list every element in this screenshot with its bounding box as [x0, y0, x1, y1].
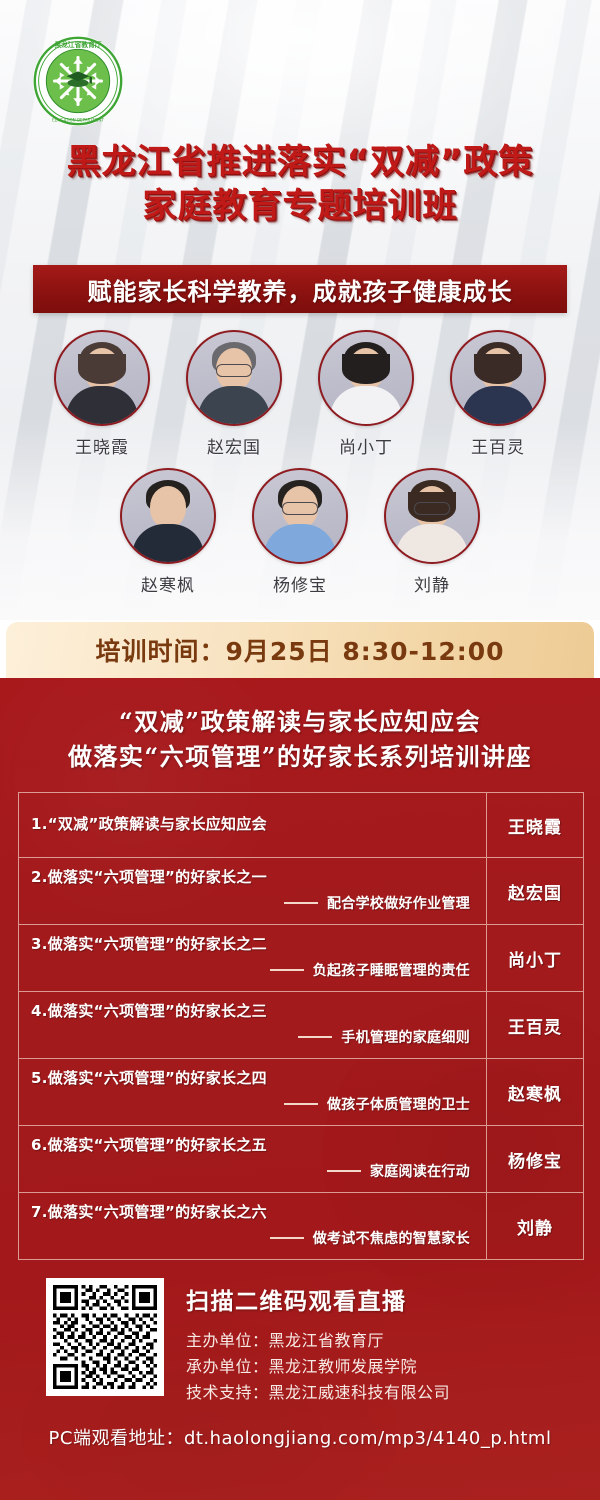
table-cell-topic: 2.做落实“六项管理”的好家长之一 配合学校做好作业管理 [19, 858, 487, 924]
avatar [384, 468, 480, 564]
avatar [252, 468, 348, 564]
speaker-name: 赵寒枫 [114, 571, 222, 596]
avatar [186, 330, 282, 426]
page-title-line-1: 黑龙江省推进落实“双减”政策 [0, 140, 600, 184]
speaker-name: 尚小丁 [312, 433, 420, 458]
speaker-card[interactable]: 赵寒枫 [114, 468, 222, 596]
speaker-card[interactable]: 刘静 [378, 468, 486, 596]
topic-subtitle: 家庭阅读在行动 [327, 1161, 474, 1181]
topic-title: 4.做落实“六项管理”的好家长之三 [31, 1001, 474, 1022]
section-heading-line-1: “双减”政策解读与家长应知应会 [0, 704, 600, 739]
table-cell-speaker: 王晓霞 [487, 793, 583, 857]
topic-subtitle: 做孩子体质管理的卫士 [284, 1094, 474, 1114]
speaker-card[interactable]: 王百灵 [444, 330, 552, 458]
tech-support-line: 技术支持：黑龙江威速科技有限公司 [186, 1380, 450, 1406]
qr-title: 扫描二维码观看直播 [186, 1282, 450, 1316]
topic-subtitle-text: 做孩子体质管理的卫士 [327, 1094, 470, 1114]
speaker-card[interactable]: 尚小丁 [312, 330, 420, 458]
qr-code[interactable] [46, 1278, 164, 1396]
qr-info: 扫描二维码观看直播 主办单位：黑龙江省教育厅 承办单位：黑龙江教师发展学院 技术… [186, 1278, 450, 1406]
dash-icon [284, 902, 318, 904]
svg-text:EDUCATION DEPARTMENT: EDUCATION DEPARTMENT [52, 117, 104, 122]
table-cell-topic: 1.“双减”政策解读与家长应知应会 [19, 793, 487, 857]
avatar [54, 330, 150, 426]
speaker-card[interactable]: 杨修宝 [246, 468, 354, 596]
speaker-card[interactable]: 赵宏国 [180, 330, 288, 458]
table-row[interactable]: 7.做落实“六项管理”的好家长之六 做考试不焦虑的智慧家长 刘静 [19, 1193, 583, 1259]
topic-title: 7.做落实“六项管理”的好家长之六 [31, 1202, 474, 1223]
topic-title: 3.做落实“六项管理”的好家长之二 [31, 934, 474, 955]
table-row[interactable]: 6.做落实“六项管理”的好家长之五 家庭阅读在行动 杨修宝 [19, 1126, 583, 1193]
speaker-name: 刘静 [378, 571, 486, 596]
section-heading: “双减”政策解读与家长应知应会 做落实“六项管理”的好家长系列培训讲座 [0, 678, 600, 774]
table-cell-speaker: 刘静 [487, 1193, 583, 1259]
pc-url-line[interactable]: PC端观看地址：dt.haolongjiang.com/mp3/4140_p.h… [0, 1424, 600, 1450]
page-title: 黑龙江省推进落实“双减”政策 家庭教育专题培训班 [0, 140, 600, 228]
training-time-text: 培训时间：9月25日 8:30-12:00 [95, 632, 504, 668]
speaker-card[interactable]: 王晓霞 [48, 330, 156, 458]
table-row[interactable]: 2.做落实“六项管理”的好家长之一 配合学校做好作业管理 赵宏国 [19, 858, 583, 925]
page-title-line-2: 家庭教育专题培训班 [0, 184, 600, 228]
subtitle-text: 赋能家长科学教养，成就孩子健康成长 [88, 272, 513, 307]
topic-subtitle-text: 家庭阅读在行动 [370, 1161, 470, 1181]
speaker-name: 王百灵 [444, 433, 552, 458]
topic-title: 2.做落实“六项管理”的好家长之一 [31, 867, 474, 888]
table-row[interactable]: 3.做落实“六项管理”的好家长之二 负起孩子睡眠管理的责任 尚小丁 [19, 925, 583, 992]
speakers-row-2: 赵寒枫 杨修宝 [0, 468, 600, 596]
topic-subtitle-text: 做考试不焦虑的智慧家长 [313, 1228, 470, 1248]
table-row[interactable]: 5.做落实“六项管理”的好家长之四 做孩子体质管理的卫士 赵寒枫 [19, 1059, 583, 1126]
table-cell-topic: 5.做落实“六项管理”的好家长之四 做孩子体质管理的卫士 [19, 1059, 487, 1125]
schedule-section: “双减”政策解读与家长应知应会 做落实“六项管理”的好家长系列培训讲座 1.“双… [0, 678, 600, 1500]
topic-subtitle: 负起孩子睡眠管理的责任 [270, 960, 474, 980]
avatar [450, 330, 546, 426]
table-row[interactable]: 4.做落实“六项管理”的好家长之三 手机管理的家庭细则 王百灵 [19, 992, 583, 1059]
topic-subtitle: 做考试不焦虑的智慧家长 [270, 1228, 474, 1248]
section-heading-line-2: 做落实“六项管理”的好家长系列培训讲座 [0, 739, 600, 774]
table-cell-topic: 7.做落实“六项管理”的好家长之六 做考试不焦虑的智慧家长 [19, 1193, 487, 1259]
qr-section: 扫描二维码观看直播 主办单位：黑龙江省教育厅 承办单位：黑龙江教师发展学院 技术… [0, 1278, 600, 1406]
dash-icon [270, 969, 304, 971]
dash-icon [284, 1103, 318, 1105]
table-cell-topic: 3.做落实“六项管理”的好家长之二 负起孩子睡眠管理的责任 [19, 925, 487, 991]
topic-subtitle: 配合学校做好作业管理 [284, 893, 474, 913]
dash-icon [270, 1237, 304, 1239]
table-cell-topic: 4.做落实“六项管理”的好家长之三 手机管理的家庭细则 [19, 992, 487, 1058]
dash-icon [298, 1036, 332, 1038]
table-cell-topic: 6.做落实“六项管理”的好家长之五 家庭阅读在行动 [19, 1126, 487, 1192]
topic-subtitle-text: 配合学校做好作业管理 [327, 893, 470, 913]
topic-subtitle-text: 负起孩子睡眠管理的责任 [313, 960, 470, 980]
table-cell-speaker: 赵宏国 [487, 858, 583, 924]
table-cell-speaker: 赵寒枫 [487, 1059, 583, 1125]
topic-title: 5.做落实“六项管理”的好家长之四 [31, 1068, 474, 1089]
organizer-line: 主办单位：黑龙江省教育厅 [186, 1328, 450, 1354]
glasses-icon [282, 502, 318, 515]
table-cell-speaker: 杨修宝 [487, 1126, 583, 1192]
co-organizer-line: 承办单位：黑龙江教师发展学院 [186, 1354, 450, 1380]
avatar [318, 330, 414, 426]
speakers-row-1: 王晓霞 赵宏国 [0, 330, 600, 458]
poster-root: 黑龙江省教育厅 EDUCATION DEPARTMENT 黑龙江省推进落实“双减… [0, 0, 600, 1500]
topic-title: 1.“双减”政策解读与家长应知应会 [31, 814, 474, 835]
table-cell-speaker: 尚小丁 [487, 925, 583, 991]
glasses-icon [414, 502, 450, 515]
speaker-name: 王晓霞 [48, 433, 156, 458]
svg-text:黑龙江省教育厅: 黑龙江省教育厅 [54, 40, 101, 49]
training-time-banner: 培训时间：9月25日 8:30-12:00 [6, 622, 594, 678]
header-section: 黑龙江省教育厅 EDUCATION DEPARTMENT 黑龙江省推进落实“双减… [0, 0, 600, 620]
topic-subtitle-text: 手机管理的家庭细则 [341, 1027, 470, 1047]
table-row[interactable]: 1.“双减”政策解读与家长应知应会 王晓霞 [19, 793, 583, 858]
speakers-gallery: 王晓霞 赵宏国 [0, 330, 600, 606]
topic-title: 6.做落实“六项管理”的好家长之五 [31, 1135, 474, 1156]
dash-icon [327, 1170, 361, 1172]
topic-subtitle: 手机管理的家庭细则 [298, 1027, 474, 1047]
speaker-name: 赵宏国 [180, 433, 288, 458]
subtitle-ribbon: 赋能家长科学教养，成就孩子健康成长 [33, 265, 567, 313]
avatar [120, 468, 216, 564]
education-department-logo-icon: 黑龙江省教育厅 EDUCATION DEPARTMENT [30, 33, 126, 129]
schedule-table: 1.“双减”政策解读与家长应知应会 王晓霞 2.做落实“六项管理”的好家长之一 … [18, 792, 584, 1260]
glasses-icon [216, 364, 252, 377]
speaker-name: 杨修宝 [246, 571, 354, 596]
table-cell-speaker: 王百灵 [487, 992, 583, 1058]
